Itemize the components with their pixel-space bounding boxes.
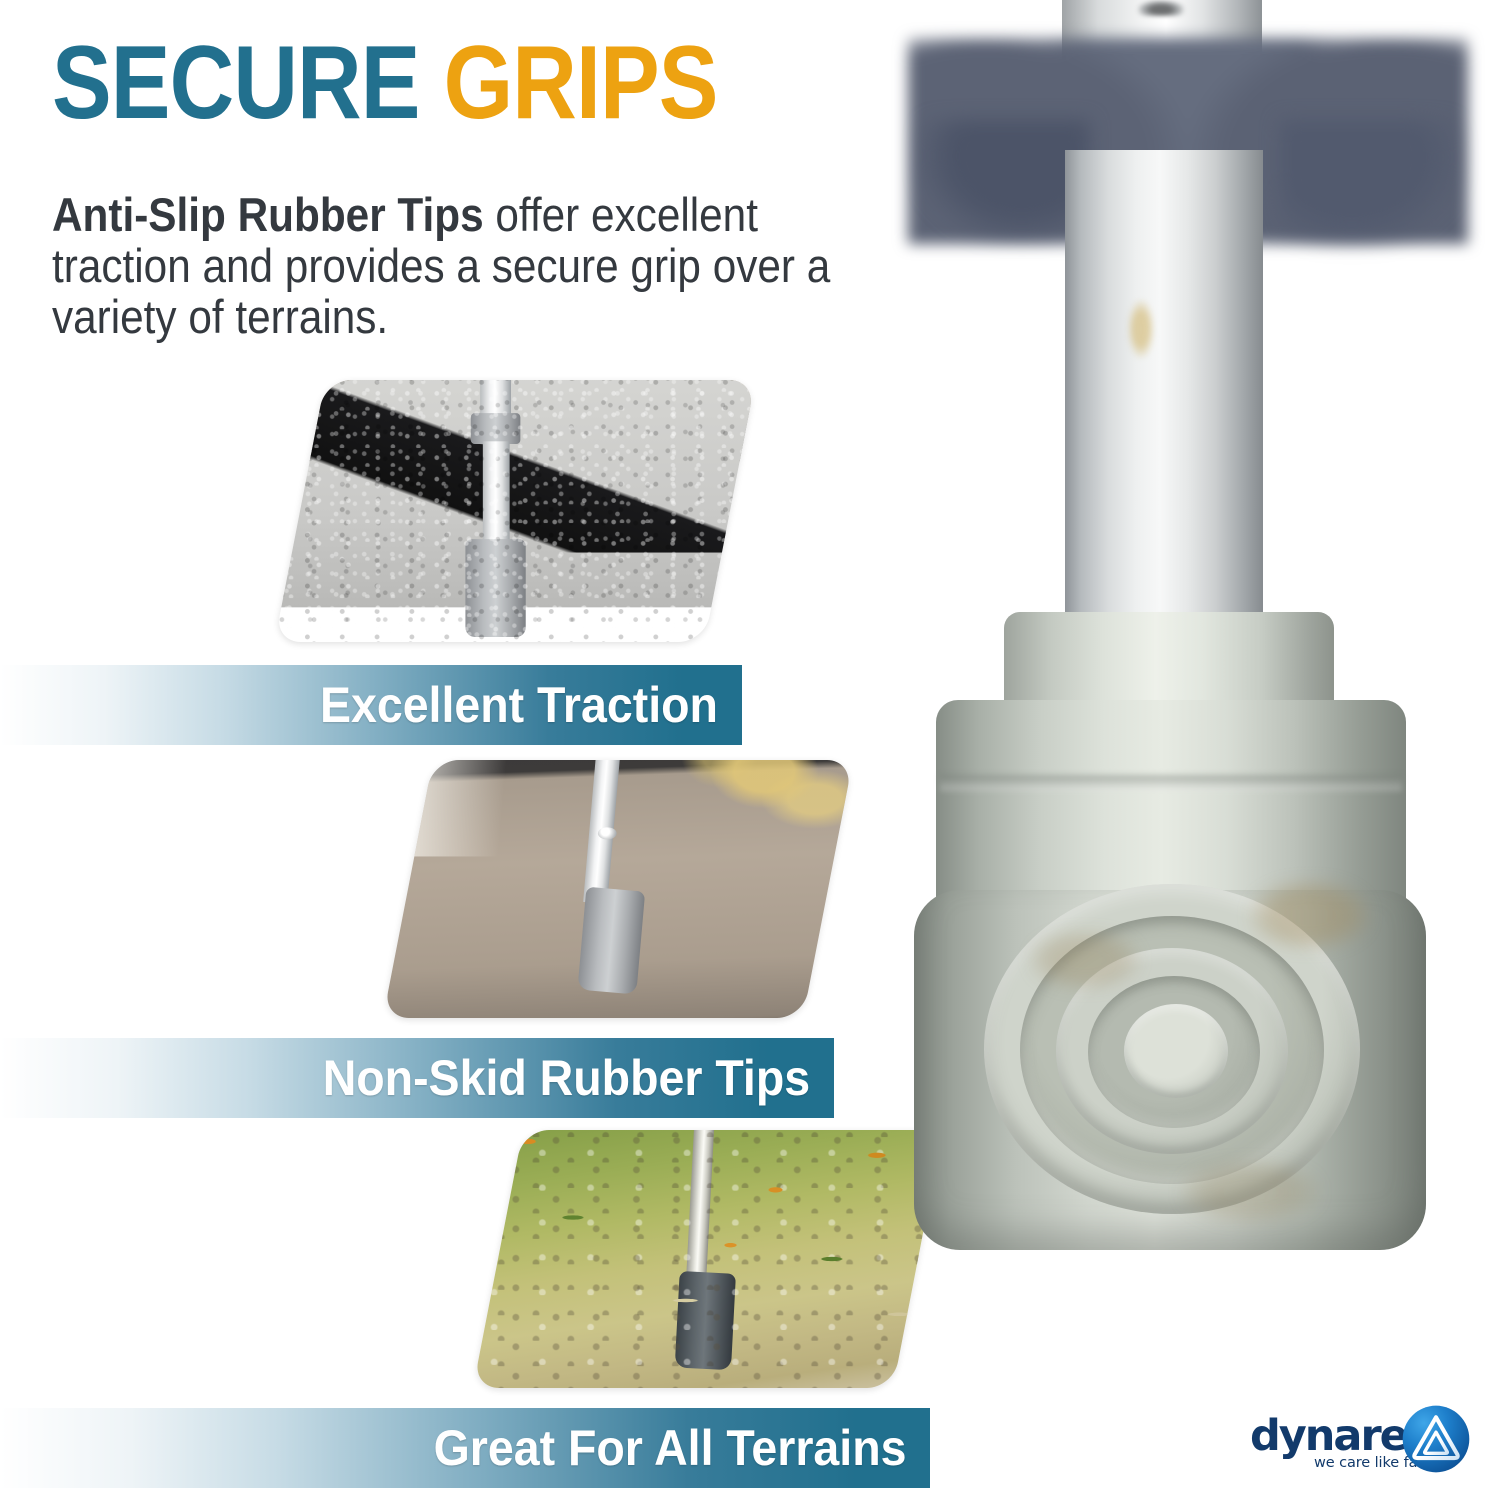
subhead-paragraph: Anti-Slip Rubber Tips offer excellent tr… bbox=[52, 190, 844, 342]
hero-wear-smudge-3 bbox=[1180, 1160, 1320, 1224]
feature-caption-bar-3: Great For All Terrains bbox=[0, 1408, 930, 1488]
hero-wear-smudge-1 bbox=[1250, 880, 1370, 950]
feature-caption-bar-1: Excellent Traction bbox=[0, 665, 742, 745]
feature-caption-bar-2: Non-Skid Rubber Tips bbox=[0, 1038, 834, 1118]
hero-shaft-blemish bbox=[1128, 300, 1154, 358]
crutch-lower-tube bbox=[483, 441, 509, 553]
feature-caption-3-label: Great For All Terrains bbox=[433, 1419, 906, 1477]
hero-main-shaft bbox=[1065, 150, 1263, 650]
crutch-rubber-tip bbox=[466, 539, 526, 637]
cane-rubber-tip bbox=[675, 1271, 736, 1371]
headline-word-secure: SECURE bbox=[52, 25, 420, 141]
subhead-bold-lead: Anti-Slip Rubber Tips bbox=[52, 188, 484, 241]
crutch-adjust-collar bbox=[471, 413, 521, 445]
headline-word-grips: GRIPS bbox=[444, 25, 718, 141]
brand-logo: dynarex ™ we care like family™ bbox=[1250, 1395, 1476, 1475]
hero-collar-shadow-right bbox=[1280, 120, 1460, 245]
cane-shaft bbox=[584, 760, 626, 903]
feature-photo-2-scene bbox=[383, 760, 853, 1018]
feature-photo-3 bbox=[473, 1130, 943, 1388]
feature-caption-1-label: Excellent Traction bbox=[320, 676, 718, 734]
feature-photo-1-scene bbox=[275, 380, 756, 642]
feature-caption-2-label: Non-Skid Rubber Tips bbox=[323, 1049, 810, 1107]
feature-photo-1 bbox=[275, 380, 756, 642]
hero-tread-ring-center bbox=[1124, 1004, 1228, 1098]
page-title: SECURE GRIPS bbox=[52, 34, 718, 133]
cane-shaft bbox=[686, 1130, 717, 1280]
hero-rivet-icon bbox=[1138, 0, 1184, 16]
hero-product-photo bbox=[880, 0, 1500, 1489]
feature-photo-2 bbox=[383, 760, 853, 1018]
hero-tip-groove bbox=[940, 775, 1402, 791]
crutch-upper-tube bbox=[480, 380, 510, 420]
product-feature-graphic: SECURE GRIPS Anti-Slip Rubber Tips offer… bbox=[0, 0, 1500, 1489]
hero-wear-smudge-2 bbox=[1030, 930, 1140, 990]
feature-photo-3-scene bbox=[473, 1130, 943, 1388]
cane-rubber-tip bbox=[577, 887, 645, 995]
cane-button-pin bbox=[598, 827, 616, 839]
dynarex-triangle-logo-icon bbox=[1402, 1405, 1470, 1473]
